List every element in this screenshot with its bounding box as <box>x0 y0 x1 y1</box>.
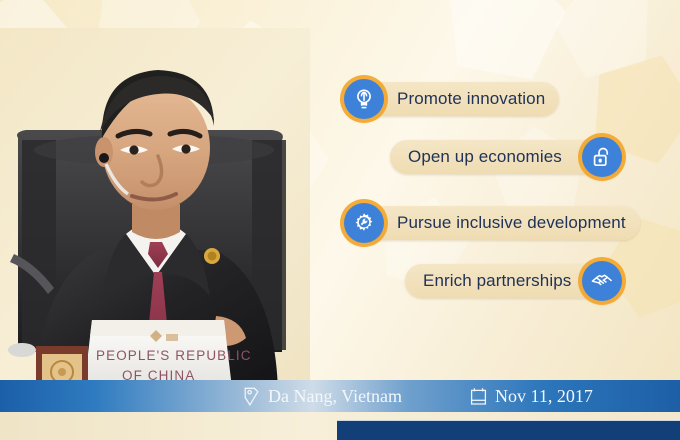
footer-location: Da Nang, Vietnam <box>243 380 402 412</box>
xi-jinping-photo: PEOPLE'S REPUBLIC OF CHINA <box>0 28 310 390</box>
gear-wrench-icon <box>344 203 384 243</box>
pentagon-decoration-icon <box>437 0 574 83</box>
footer-date-label: Nov 11, 2017 <box>495 386 593 407</box>
message-label: Promote innovation <box>355 89 559 109</box>
footer-location-label: Da Nang, Vietnam <box>268 386 402 407</box>
map-pin-icon <box>243 387 260 406</box>
unlock-icon <box>582 137 622 177</box>
lightbulb-icon <box>344 79 384 119</box>
message-pill-promote-innovation[interactable]: Promote innovation <box>355 82 559 116</box>
calendar-icon <box>470 387 487 406</box>
footer-date: Nov 11, 2017 <box>470 380 593 412</box>
footer-bar: Da Nang, Vietnam Nov 11, 2017 <box>0 380 680 412</box>
nameplate-line-1: PEOPLE'S REPUBLIC <box>96 348 252 363</box>
handshake-icon <box>582 261 622 301</box>
message-pill-pursue-inclusive-development[interactable]: Pursue inclusive development <box>355 206 640 240</box>
apec-summit-banner: PEOPLE'S REPUBLIC OF CHINA Promote innov… <box>0 0 680 440</box>
message-label: Open up economies <box>390 147 606 167</box>
bottom-navy-strip <box>337 420 680 440</box>
message-pill-open-up-economies[interactable]: Open up economies <box>390 140 606 174</box>
message-label: Pursue inclusive development <box>355 213 640 233</box>
